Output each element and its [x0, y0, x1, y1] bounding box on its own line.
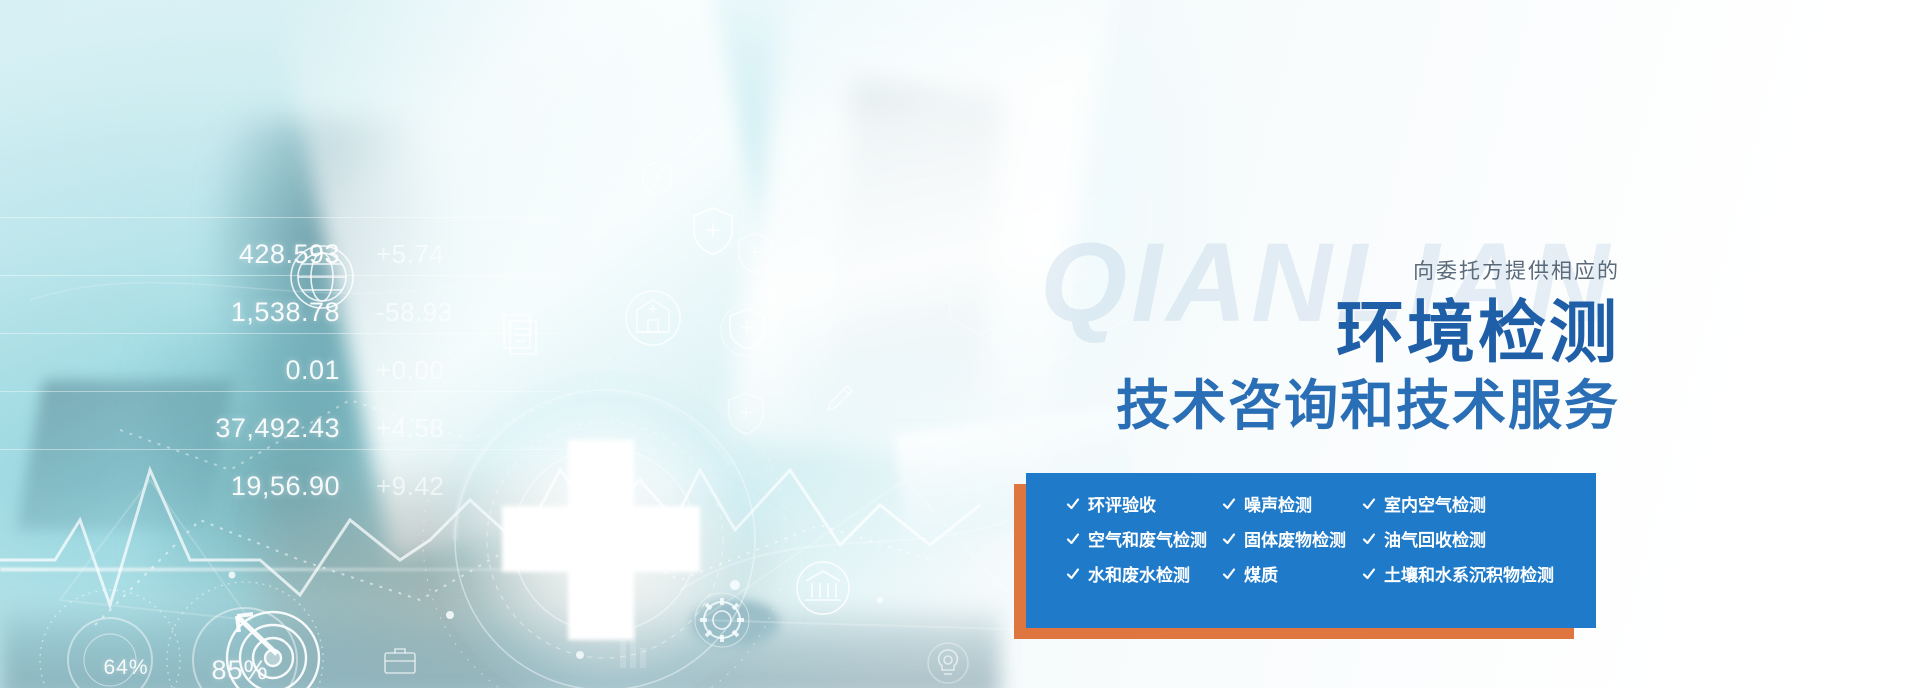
shield-plus-icon	[640, 160, 674, 198]
gauge-label: 85%	[185, 615, 295, 688]
briefcase-icon	[380, 640, 420, 680]
check-icon	[1066, 497, 1080, 511]
shield-plus-icon	[720, 300, 774, 360]
lightbulb-icon	[925, 640, 971, 686]
medical-cross-icon	[500, 440, 710, 640]
service-item[interactable]: 噪声检测	[1222, 491, 1354, 516]
service-label: 油气回收检测	[1384, 526, 1486, 551]
service-item[interactable]: 水和废水检测	[1066, 561, 1214, 586]
service-label: 水和废水检测	[1088, 561, 1190, 586]
check-icon	[1222, 497, 1236, 511]
service-item[interactable]: 空气和废气检测	[1066, 526, 1214, 551]
service-item[interactable]: 固体废物检测	[1222, 526, 1354, 551]
check-icon	[1066, 532, 1080, 546]
service-label: 固体废物检测	[1244, 526, 1346, 551]
page-title: 环境检测	[1010, 299, 1620, 370]
services-feature-box: 环评验收 噪声检测 室内空气检测 空气和废气检测	[1026, 473, 1596, 628]
page-subtitle: 技术咨询和技术服务	[1010, 376, 1620, 436]
service-item[interactable]: 煤质	[1222, 561, 1354, 586]
check-icon	[1362, 532, 1376, 546]
document-ring	[496, 317, 497, 318]
document-icon	[500, 312, 540, 356]
service-label: 环评验收	[1088, 491, 1156, 516]
cross-horizontal-bar	[502, 506, 700, 572]
service-label: 噪声检测	[1244, 491, 1312, 516]
service-item[interactable]: 土壤和水系沉积物检测	[1362, 561, 1570, 586]
gauge-64: 64%	[78, 620, 174, 688]
hospital-building-icon	[615, 280, 691, 356]
service-item[interactable]: 油气回收检测	[1362, 526, 1570, 551]
bank-icon	[790, 555, 856, 621]
check-icon	[1066, 567, 1080, 581]
check-icon	[1362, 567, 1376, 581]
service-label: 煤质	[1244, 561, 1278, 586]
shield-plus-icon	[735, 230, 775, 276]
check-icon	[1222, 532, 1236, 546]
gauge-label: 64%	[78, 620, 174, 688]
hero-copy: 向委托方提供相应的 环境检测 技术咨询和技术服务	[1010, 255, 1620, 436]
check-icon	[1222, 567, 1236, 581]
hud-vector-overlay	[0, 0, 1920, 688]
globe-icon	[288, 243, 356, 311]
eyebrow-text: 向委托方提供相应的	[1010, 255, 1620, 285]
service-label: 室内空气检测	[1384, 491, 1486, 516]
service-item[interactable]: 室内空气检测	[1362, 491, 1570, 516]
services-grid: 环评验收 噪声检测 室内空气检测 空气和废气检测	[1066, 491, 1570, 586]
service-item[interactable]: 环评验收	[1066, 491, 1214, 516]
shield-plus-icon	[690, 205, 736, 257]
check-icon	[1362, 497, 1376, 511]
service-label: 土壤和水系沉积物检测	[1384, 561, 1554, 586]
pen-icon	[820, 380, 858, 418]
service-label: 空气和废气检测	[1088, 526, 1207, 551]
gauge-85: 85%	[185, 615, 295, 688]
hero-banner: 428.593 +5.74 1,538.78 -58.93 0.01 +0.00…	[0, 0, 1920, 688]
